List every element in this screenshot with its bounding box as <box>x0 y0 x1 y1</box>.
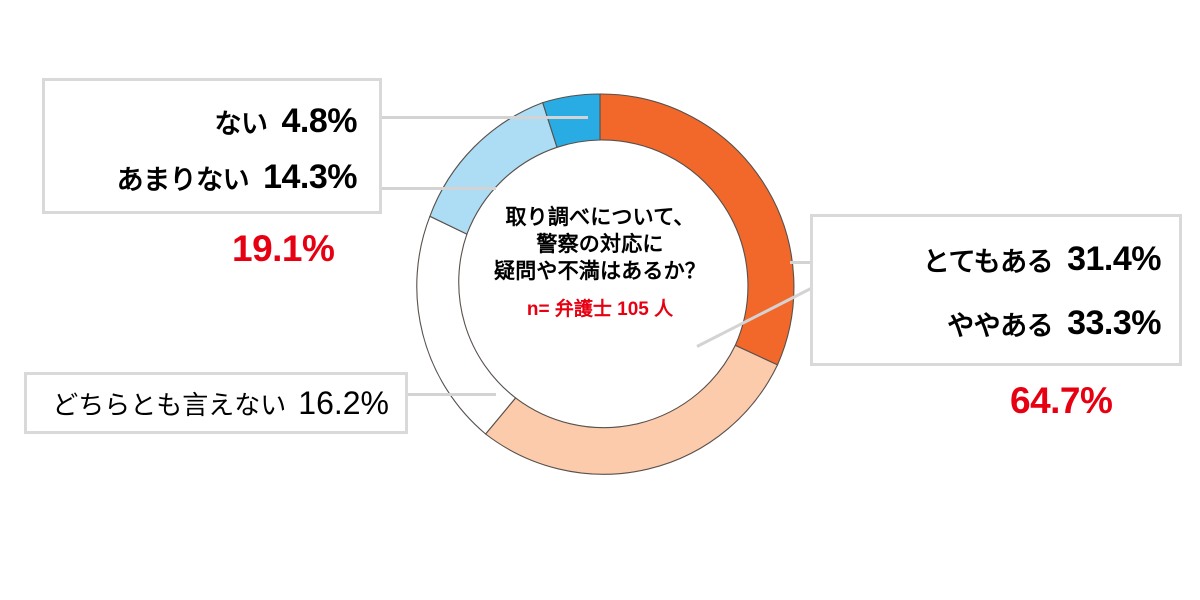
label-row-none: ない 4.8% <box>63 93 357 149</box>
label-row-somewhat: ややある 33.3% <box>829 291 1161 355</box>
total-positive: 64.7% <box>1010 380 1112 422</box>
donut-chart-svg <box>405 92 795 482</box>
label-row-very-much: とてもある 31.4% <box>829 227 1161 291</box>
total-negative: 19.1% <box>232 228 334 270</box>
donut-segment-somewhat[interactable] <box>486 345 778 474</box>
label-name-very-much: とてもある <box>923 240 1053 279</box>
donut-segment-not-much[interactable] <box>430 103 557 235</box>
infographic-canvas: 取り調べについて、 警察の対応に 疑問や不満はあるか？ n= 弁護士 105 人… <box>0 0 1200 600</box>
label-name-none: ない <box>215 102 268 141</box>
donut-chart <box>405 92 795 482</box>
label-name-neither: どちらとも言えない <box>52 385 286 422</box>
label-name-somewhat: ややある <box>947 304 1053 343</box>
label-row-not-much: あまりない 14.3% <box>63 149 357 205</box>
label-pct-none: 4.8% <box>282 102 358 141</box>
label-box-neutral[interactable]: どちらとも言えない 16.2% <box>24 372 408 434</box>
label-pct-neither: 16.2% <box>298 385 389 422</box>
leader-line-neither <box>408 393 496 396</box>
label-pct-very-much: 31.4% <box>1067 240 1161 279</box>
label-pct-somewhat: 33.3% <box>1067 304 1161 343</box>
label-box-positive[interactable]: とてもある 31.4% ややある 33.3% <box>810 214 1182 366</box>
label-name-not-much: あまりない <box>117 158 250 197</box>
donut-segment-very-much[interactable] <box>600 94 794 365</box>
label-pct-not-much: 14.3% <box>263 158 357 197</box>
leader-line-none <box>382 116 588 119</box>
donut-segment-neither[interactable] <box>417 216 516 434</box>
leader-line-not-much <box>382 187 496 190</box>
label-box-negative[interactable]: ない 4.8% あまりない 14.3% <box>42 78 382 214</box>
